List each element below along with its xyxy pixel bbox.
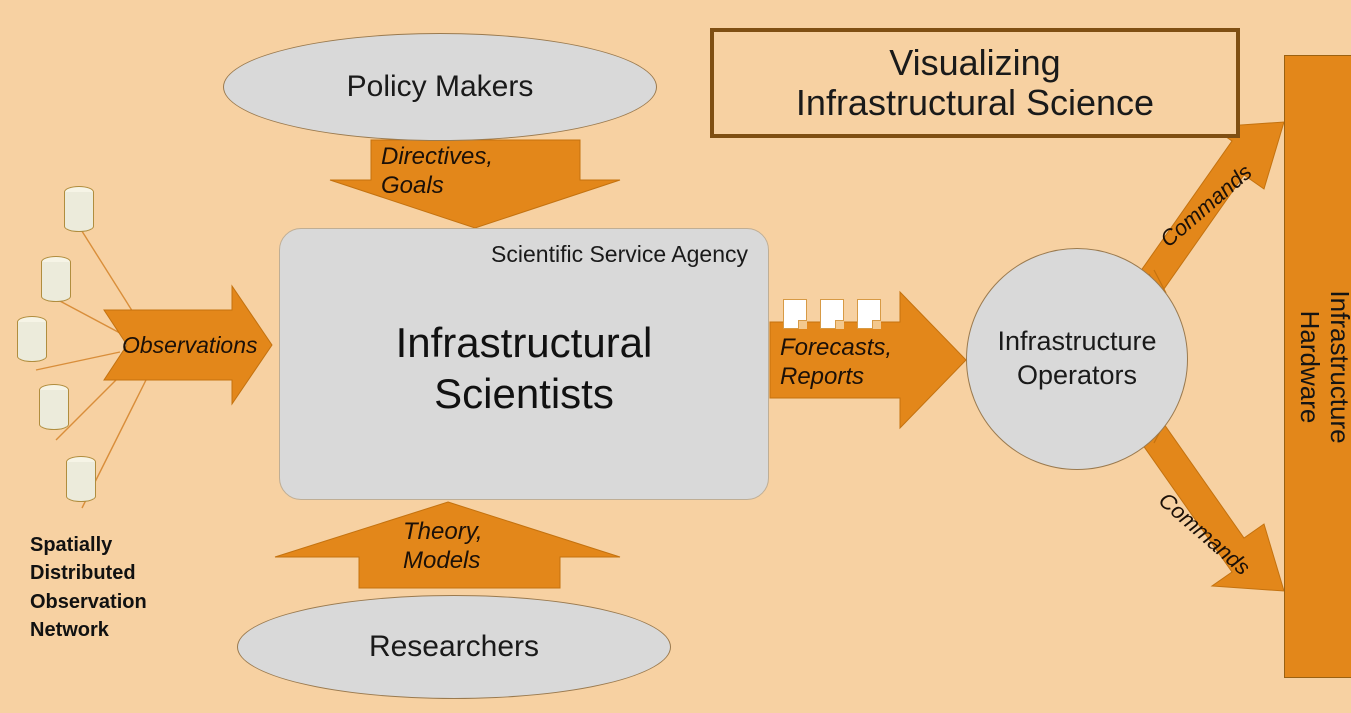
- hardware-label: Infrastructure Hardware: [1294, 290, 1351, 443]
- title-line-2: Infrastructural Science: [796, 83, 1154, 123]
- diagram-canvas: Visualizing Infrastructural Science Poli…: [0, 0, 1351, 713]
- flow-label-directives: Directives, Goals: [381, 143, 493, 201]
- cylinder-sensor-icon: [17, 316, 47, 362]
- node-researchers[interactable]: Researchers: [237, 595, 671, 699]
- node-infrastructure-operators[interactable]: Infrastructure Operators: [966, 248, 1188, 470]
- node-scientific-service-agency[interactable]: Scientific Service Agency Infrastructura…: [279, 228, 769, 500]
- network-label-line-4: Network: [30, 616, 147, 644]
- agency-caption: Scientific Service Agency: [491, 241, 748, 268]
- hardware-line-1: Infrastructure: [1324, 290, 1351, 443]
- network-label-line-2: Distributed: [30, 559, 147, 587]
- flow-label-commands-top: Commands: [1155, 159, 1257, 252]
- node-infrastructure-hardware[interactable]: Infrastructure Hardware: [1284, 55, 1351, 678]
- network-label-line-3: Observation: [30, 588, 147, 616]
- agency-title: Infrastructural Scientists: [280, 317, 768, 419]
- agency-title-line-2: Scientists: [280, 368, 768, 419]
- hardware-line-2: Hardware: [1294, 290, 1324, 443]
- node-researchers-label: Researchers: [369, 630, 539, 664]
- operators-line-2: Operators: [1017, 359, 1137, 393]
- title-line-1: Visualizing: [889, 43, 1060, 83]
- operators-line-1: Infrastructure: [997, 325, 1156, 359]
- document-page-icon: [857, 299, 881, 329]
- node-policy-makers-label: Policy Makers: [347, 70, 534, 104]
- flow-label-observations: Observations: [122, 332, 258, 360]
- cylinder-sensor-icon: [64, 186, 94, 232]
- cylinder-sensor-icon: [41, 256, 71, 302]
- cylinder-sensor-icon: [39, 384, 69, 430]
- flow-label-forecasts: Forecasts, Reports: [780, 334, 892, 392]
- observation-network-label: Spatially Distributed Observation Networ…: [30, 531, 147, 645]
- network-label-line-1: Spatially: [30, 531, 147, 559]
- agency-title-line-1: Infrastructural: [280, 317, 768, 368]
- flow-label-commands-bottom: Commands: [1153, 487, 1255, 580]
- node-policy-makers[interactable]: Policy Makers: [223, 33, 657, 141]
- cylinder-sensor-icon: [66, 456, 96, 502]
- flow-label-theory: Theory, Models: [403, 518, 483, 576]
- document-page-icon: [820, 299, 844, 329]
- title-box: Visualizing Infrastructural Science: [710, 28, 1240, 138]
- document-page-icon: [783, 299, 807, 329]
